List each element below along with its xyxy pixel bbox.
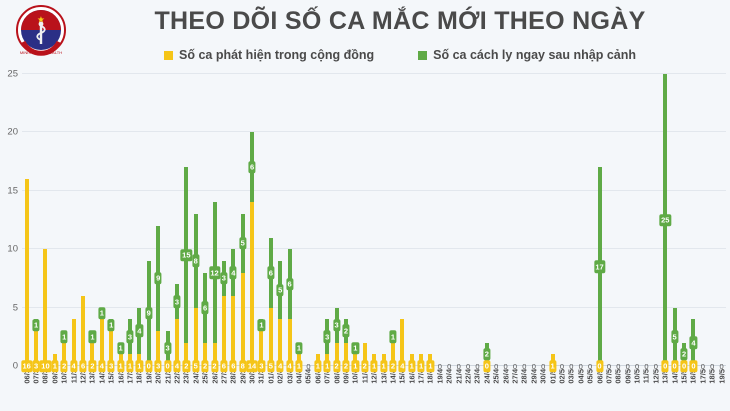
x-axis-tick-label: 26/4: [501, 369, 510, 384]
bar-column[interactable]: 0: [501, 74, 510, 366]
bar-column[interactable]: 0: [492, 74, 501, 366]
bar-column[interactable]: 93: [153, 74, 162, 366]
bar-column[interactable]: 0: [642, 74, 651, 366]
bar-value-label-community: 0: [466, 362, 470, 370]
bar-column[interactable]: 0: [717, 74, 726, 366]
x-axis-tick: 01/4: [266, 367, 275, 411]
x-axis-tick: 28/4: [520, 367, 529, 411]
x-axis-tick: 18/5: [708, 367, 717, 411]
bar-value-label-community: 1: [51, 360, 58, 373]
bar-value-label-community: 1: [117, 360, 124, 373]
x-axis-tick: 04/4: [294, 367, 303, 411]
page-title: THEO DÕI SỐ CA MẮC MỚI THEO NGÀY: [100, 8, 700, 36]
bar-value-label-community: 0: [447, 362, 451, 370]
bar-stack: 0: [607, 74, 611, 366]
bar-segment-community: [43, 249, 47, 366]
bar-column[interactable]: 12: [388, 74, 397, 366]
bar-column[interactable]: 20: [482, 74, 491, 366]
bar-column[interactable]: 46: [229, 74, 238, 366]
bar-value-label-community: 4: [399, 360, 406, 373]
bar-value-label-community: 2: [333, 360, 340, 373]
bar-column[interactable]: 0: [567, 74, 576, 366]
x-axis-tick: 17/5: [698, 367, 707, 411]
bar-value-label-quarantine: 3: [333, 319, 340, 332]
bar-value-label-community: 2: [202, 360, 209, 373]
x-axis-tick: 27/4: [510, 367, 519, 411]
bar-column[interactable]: 12: [60, 74, 69, 366]
legend-item-quarantine: Số ca cách ly ngay sau nhập cảnh: [418, 48, 636, 62]
x-axis-tick: 13/3: [88, 367, 97, 411]
x-axis-tick: 18/3: [135, 367, 144, 411]
bar-column[interactable]: 0: [708, 74, 717, 366]
y-axis-tick-10: 10: [7, 244, 18, 255]
x-axis-tick-label: 09/5: [623, 369, 632, 384]
bar-column[interactable]: 64: [285, 74, 294, 366]
bar-value-label-quarantine: 1: [32, 319, 39, 332]
x-axis-tick: 10/3: [60, 367, 69, 411]
x-axis-tick: 14/4: [388, 367, 397, 411]
bar-stack: 11: [297, 74, 301, 366]
bar-column[interactable]: 32: [332, 74, 341, 366]
bar-column[interactable]: 0: [529, 74, 538, 366]
x-axis-tick: 29/4: [529, 367, 538, 411]
bar-stack: 250: [663, 74, 667, 366]
x-axis-tick: 09/4: [341, 367, 350, 411]
bar-value-label-community: 0: [588, 362, 592, 370]
bar-column[interactable]: 11: [351, 74, 360, 366]
bar-stack: 11: [119, 74, 123, 366]
bar-stack: 1: [382, 74, 386, 366]
bar-column[interactable]: 0: [520, 74, 529, 366]
bar-stack: 64: [288, 74, 292, 366]
bar-column[interactable]: 85: [191, 74, 200, 366]
bar-value-label-quarantine: 5: [671, 331, 678, 344]
bar-stack: 12: [391, 74, 395, 366]
bar-value-label-community: 0: [662, 360, 669, 373]
bar-column[interactable]: 170: [595, 74, 604, 366]
bar-stack: 0: [710, 74, 714, 366]
bar-column[interactable]: 6: [78, 74, 87, 366]
bar-column[interactable]: 12: [88, 74, 97, 366]
bar-value-label-community: 0: [532, 362, 536, 370]
bar-value-label-community: 6: [220, 360, 227, 373]
x-axis-tick: 07/4: [323, 367, 332, 411]
x-axis-tick-label: 30/4: [539, 369, 548, 384]
bar-value-label-community: 1: [427, 360, 434, 373]
y-axis-tick-5: 5: [13, 302, 18, 313]
bar-value-label-community: 0: [635, 362, 639, 370]
x-axis-tick: 15/5: [679, 367, 688, 411]
bar-value-label-community: 0: [475, 362, 479, 370]
bar-column[interactable]: 0: [538, 74, 547, 366]
bar-stack: 0: [466, 74, 470, 366]
bar-column[interactable]: 1: [313, 74, 322, 366]
bar-stack: 54: [278, 74, 282, 366]
x-axis-tick: 16/4: [407, 367, 416, 411]
y-axis-tick-0: 0: [13, 361, 18, 372]
x-axis-tick: 12/4: [369, 367, 378, 411]
bar-value-label-quarantine: 8: [192, 255, 199, 268]
bar-column[interactable]: 16: [22, 74, 31, 366]
bar-stack: 0: [560, 74, 564, 366]
bar-stack: 1: [316, 74, 320, 366]
bar-column[interactable]: 41: [135, 74, 144, 366]
x-axis-tick: 26/4: [501, 367, 510, 411]
bar-stack: 40: [691, 74, 695, 366]
bar-value-label-community: 4: [98, 360, 105, 373]
bar-column[interactable]: 40: [689, 74, 698, 366]
bar-stack: 0: [504, 74, 508, 366]
x-axis-tick: 30/3: [247, 367, 256, 411]
bar-value-label-community: 0: [504, 362, 508, 370]
chart-bars: 1613101124612141311314190933034152856212…: [22, 74, 726, 366]
bar-stack: 0: [616, 74, 620, 366]
x-axis-tick: 15/3: [107, 367, 116, 411]
x-axis-tick: 23/3: [182, 367, 191, 411]
bar-segment-community: [81, 296, 85, 366]
bar-stack: 32: [335, 74, 339, 366]
bar-column[interactable]: 2: [360, 74, 369, 366]
bar-stack: 46: [231, 74, 235, 366]
bar-column[interactable]: 0: [604, 74, 613, 366]
bar-value-label-quarantine: 9: [155, 272, 162, 285]
bar-column[interactable]: 13: [257, 74, 266, 366]
x-axis-tick: 27/3: [219, 367, 228, 411]
bar-stack: 20: [485, 74, 489, 366]
bar-column[interactable]: 62: [200, 74, 209, 366]
bar-column[interactable]: 31: [125, 74, 134, 366]
x-axis-tick: 26/3: [210, 367, 219, 411]
bar-stack: 1: [372, 74, 376, 366]
x-axis-tick-label: 29/4: [529, 369, 538, 384]
bar-column[interactable]: 10: [41, 74, 50, 366]
bar-value-label-quarantine: 6: [267, 266, 274, 279]
bar-segment-community: [231, 296, 235, 366]
bar-column[interactable]: 13: [31, 74, 40, 366]
x-axis-tick-label: 04/5: [576, 369, 585, 384]
x-axis-tick-label: 19/5: [717, 369, 726, 384]
bar-segment-community: [250, 202, 254, 366]
bar-value-label-community: 0: [457, 362, 461, 370]
bar-column[interactable]: 152: [182, 74, 191, 366]
bar-stack: 10: [43, 74, 47, 366]
bar-value-label-community: 3: [155, 360, 162, 373]
bar-column[interactable]: 11: [116, 74, 125, 366]
bar-column[interactable]: 4: [69, 74, 78, 366]
x-axis-tick: 19/4: [435, 367, 444, 411]
bar-column[interactable]: 0: [623, 74, 632, 366]
x-axis-tick: 16/3: [116, 367, 125, 411]
x-axis-tick: 05/5: [585, 367, 594, 411]
y-axis-tick-20: 20: [7, 127, 18, 138]
bar-value-label-quarantine: 5: [239, 237, 246, 250]
bar-value-label-quarantine: 15: [181, 249, 192, 262]
bar-column[interactable]: 1: [407, 74, 416, 366]
bar-column[interactable]: 36: [219, 74, 228, 366]
bar-value-label-community: 0: [438, 362, 442, 370]
bar-column[interactable]: 11: [294, 74, 303, 366]
bar-column[interactable]: 0: [510, 74, 519, 366]
x-axis-tick: 06/5: [595, 367, 604, 411]
bar-value-label-community: 3: [32, 360, 39, 373]
bar-column[interactable]: 4: [398, 74, 407, 366]
bar-value-label-quarantine: 25: [660, 214, 671, 227]
bar-stack: 14: [100, 74, 104, 366]
x-axis-tick: 08/4: [332, 367, 341, 411]
bar-stack: 11: [353, 74, 357, 366]
bar-column[interactable]: 1: [50, 74, 59, 366]
bar-value-label-quarantine: 1: [61, 331, 68, 344]
bar-stack: 0: [541, 74, 545, 366]
x-axis-tick: 03/5: [567, 367, 576, 411]
bar-stack: 13: [34, 74, 38, 366]
bar-column[interactable]: 1: [379, 74, 388, 366]
bar-value-label-quarantine: 1: [258, 319, 265, 332]
bar-column[interactable]: 13: [107, 74, 116, 366]
bar-column[interactable]: 250: [661, 74, 670, 366]
bar-segment-community: [222, 296, 226, 366]
bar-value-label-community: 1: [418, 360, 425, 373]
bar-column[interactable]: 0: [698, 74, 707, 366]
bar-value-label-quarantine: 2: [680, 348, 687, 361]
bar-stack: 170: [598, 74, 602, 366]
bar-value-label-community: 0: [710, 362, 714, 370]
bar-value-label-community: 0: [569, 362, 573, 370]
x-axis-tick: 22/4: [463, 367, 472, 411]
bar-stack: 36: [222, 74, 226, 366]
y-axis-tick-25: 25: [7, 69, 18, 80]
bar-stack: 0: [720, 74, 724, 366]
bar-stack: 20: [682, 74, 686, 366]
ministry-of-health-logo: MINISTRY OF HEALTH: [14, 4, 68, 60]
x-axis-tick: 12/3: [78, 367, 87, 411]
bar-value-label-community: 0: [522, 362, 526, 370]
bar-column[interactable]: 614: [247, 74, 256, 366]
bar-stack: 13: [259, 74, 263, 366]
bar-value-label-quarantine: 3: [220, 272, 227, 285]
x-axis-tick: 14/3: [97, 367, 106, 411]
bar-value-label-quarantine: 9: [145, 307, 152, 320]
x-axis-tick-label: 05/4: [304, 369, 313, 384]
x-axis-tick: 19/3: [144, 367, 153, 411]
bar-column[interactable]: 0: [614, 74, 623, 366]
bar-stack: 41: [137, 74, 141, 366]
bar-column[interactable]: 14: [97, 74, 106, 366]
bar-value-label-community: 0: [701, 362, 705, 370]
legend-swatch-community: [164, 51, 173, 60]
bar-value-label-community: 8: [239, 360, 246, 373]
bar-stack: 13: [109, 74, 113, 366]
x-axis-tick: 25/3: [200, 367, 209, 411]
x-axis-tick: 15/4: [398, 367, 407, 411]
bar-stack: 2: [363, 74, 367, 366]
x-axis-tick-label: 22/4: [464, 369, 473, 384]
x-axis-tick: 18/4: [426, 367, 435, 411]
bar-column[interactable]: 0: [473, 74, 482, 366]
bar-value-label-quarantine: 1: [89, 331, 96, 344]
bar-column[interactable]: 31: [323, 74, 332, 366]
bar-stack: 0: [494, 74, 498, 366]
x-axis-tick: 09/3: [50, 367, 59, 411]
bar-column[interactable]: 0: [576, 74, 585, 366]
bar-stack: 0: [457, 74, 461, 366]
x-axis-tick-label: 18/5: [708, 369, 717, 384]
bar-stack: 12: [90, 74, 94, 366]
bar-column[interactable]: 0: [557, 74, 566, 366]
bar-value-label-quarantine: 6: [286, 278, 293, 291]
x-axis-tick-label: 10/5: [633, 369, 642, 384]
bar-stack: 0: [626, 74, 630, 366]
bar-stack: 4: [400, 74, 404, 366]
bar-column[interactable]: 0: [454, 74, 463, 366]
x-axis-tick: 13/5: [661, 367, 670, 411]
bar-value-label-community: 1: [126, 360, 133, 373]
bar-value-label-community: 2: [211, 360, 218, 373]
x-axis-tick: 08/3: [41, 367, 50, 411]
bar-value-label-community: 2: [342, 360, 349, 373]
bar-value-label-community: 1: [314, 360, 321, 373]
x-axis-tick: 12/5: [651, 367, 660, 411]
bar-column[interactable]: 50: [670, 74, 679, 366]
x-axis-tick: 29/3: [238, 367, 247, 411]
bar-value-label-quarantine: 1: [389, 331, 396, 344]
bar-value-label-community: 0: [680, 360, 687, 373]
legend-label-community: Số ca phát hiện trong cộng đồng: [179, 48, 374, 62]
bar-column[interactable]: 1: [416, 74, 425, 366]
bar-value-label-community: 0: [626, 362, 630, 370]
bar-value-label-quarantine: 12: [209, 266, 220, 279]
x-axis-tick: 24/3: [191, 367, 200, 411]
bar-value-label-community: 4: [173, 360, 180, 373]
x-axis-tick-label: 08/5: [614, 369, 623, 384]
bar-value-label-quarantine: 6: [202, 301, 209, 314]
bar-stack: 0: [579, 74, 583, 366]
x-axis-tick: 02/4: [276, 367, 285, 411]
bar-segment-community: [241, 273, 245, 366]
bar-stack: 31: [128, 74, 132, 366]
x-axis-tick: 06/4: [313, 367, 322, 411]
bar-column[interactable]: 122: [210, 74, 219, 366]
bar-column[interactable]: 54: [276, 74, 285, 366]
bar-stack: 0: [447, 74, 451, 366]
x-axis-tick: 07/5: [604, 367, 613, 411]
bar-value-label-quarantine: 4: [230, 266, 237, 279]
bar-value-label-community: 2: [89, 360, 96, 373]
bar-value-label-quarantine: 1: [352, 342, 359, 355]
x-axis-tick-label: 23/4: [473, 369, 482, 384]
bar-value-label-community: 1: [295, 360, 302, 373]
bar-column[interactable]: 30: [163, 74, 172, 366]
bar-value-label-community: 0: [690, 360, 697, 373]
bar-column[interactable]: 0: [445, 74, 454, 366]
x-axis-tick: 21/3: [163, 367, 172, 411]
bar-stack: 30: [166, 74, 170, 366]
x-axis-tick: 22/3: [172, 367, 181, 411]
x-axis-tick: 19/5: [717, 367, 726, 411]
x-axis-tick: 17/4: [416, 367, 425, 411]
bar-stack: 1: [419, 74, 423, 366]
bar-column[interactable]: 0: [585, 74, 594, 366]
bar-stack: 58: [241, 74, 245, 366]
bar-stack: 0: [475, 74, 479, 366]
bar-value-label-community: 0: [607, 362, 611, 370]
bar-value-label-community: 3: [258, 360, 265, 373]
bar-value-label-community: 2: [389, 360, 396, 373]
bar-stack: 0: [522, 74, 526, 366]
bar-value-label-community: 0: [513, 362, 517, 370]
bar-value-label-community: 0: [494, 362, 498, 370]
bar-value-label-community: 1: [549, 360, 556, 373]
x-axis-tick: 14/5: [670, 367, 679, 411]
bar-stack: 4: [72, 74, 76, 366]
bar-value-label-quarantine: 3: [164, 342, 171, 355]
bar-column[interactable]: 34: [172, 74, 181, 366]
bar-column[interactable]: 22: [341, 74, 350, 366]
y-axis-tick-15: 15: [7, 185, 18, 196]
x-axis-tick: 11/3: [69, 367, 78, 411]
bar-stack: 0: [701, 74, 705, 366]
x-axis-tick: 01/5: [548, 367, 557, 411]
bar-stack: 85: [194, 74, 198, 366]
x-axis-tick: 31/3: [257, 367, 266, 411]
bar-stack: 1: [410, 74, 414, 366]
bar-value-label-community: 5: [192, 360, 199, 373]
legend-item-community: Số ca phát hiện trong cộng đồng: [164, 48, 374, 62]
bar-stack: 0: [532, 74, 536, 366]
bar-value-label-quarantine: 1: [98, 307, 105, 320]
bar-stack: 122: [213, 74, 217, 366]
x-axis-tick: 20/4: [445, 367, 454, 411]
chart-x-axis: 06/307/308/309/310/311/312/313/314/315/3…: [22, 367, 726, 411]
x-axis-tick-label: 07/5: [604, 369, 613, 384]
bar-column[interactable]: 0: [304, 74, 313, 366]
bar-stack: 22: [344, 74, 348, 366]
bar-value-label-community: 0: [596, 360, 603, 373]
bar-column[interactable]: 1: [369, 74, 378, 366]
bar-stack: 65: [269, 74, 273, 366]
bar-value-label-community: 0: [654, 362, 658, 370]
bar-stack: 12: [62, 74, 66, 366]
legend-label-quarantine: Số ca cách ly ngay sau nhập cảnh: [433, 48, 636, 62]
bar-stack: 0: [438, 74, 442, 366]
bar-column[interactable]: 0: [463, 74, 472, 366]
bar-column[interactable]: 0: [435, 74, 444, 366]
bar-stack: 93: [156, 74, 160, 366]
bar-stack: 1: [428, 74, 432, 366]
bar-value-label-community: 6: [79, 360, 86, 373]
bar-column[interactable]: 65: [266, 74, 275, 366]
bar-column[interactable]: 58: [238, 74, 247, 366]
bar-value-label-quarantine: 1: [117, 342, 124, 355]
bar-column[interactable]: 1: [426, 74, 435, 366]
bar-value-label-community: 1: [371, 360, 378, 373]
x-axis-tick: 21/4: [454, 367, 463, 411]
bar-value-label-community: 1: [380, 360, 387, 373]
bar-segment-community: [269, 308, 273, 366]
bar-value-label-community: 0: [560, 362, 564, 370]
bar-column[interactable]: 90: [144, 74, 153, 366]
bar-value-label-quarantine: 3: [324, 331, 331, 344]
chart-plot-area: 0510152025 16131011246121413113141909330…: [0, 66, 730, 411]
x-axis-tick: 02/5: [557, 367, 566, 411]
bar-column[interactable]: 0: [632, 74, 641, 366]
bar-column[interactable]: 1: [548, 74, 557, 366]
x-axis-tick: 11/5: [642, 367, 651, 411]
bar-value-label-community: 1: [408, 360, 415, 373]
bar-value-label-community: 14: [246, 360, 257, 373]
bar-value-label-community: 0: [616, 362, 620, 370]
bar-column[interactable]: 20: [679, 74, 688, 366]
